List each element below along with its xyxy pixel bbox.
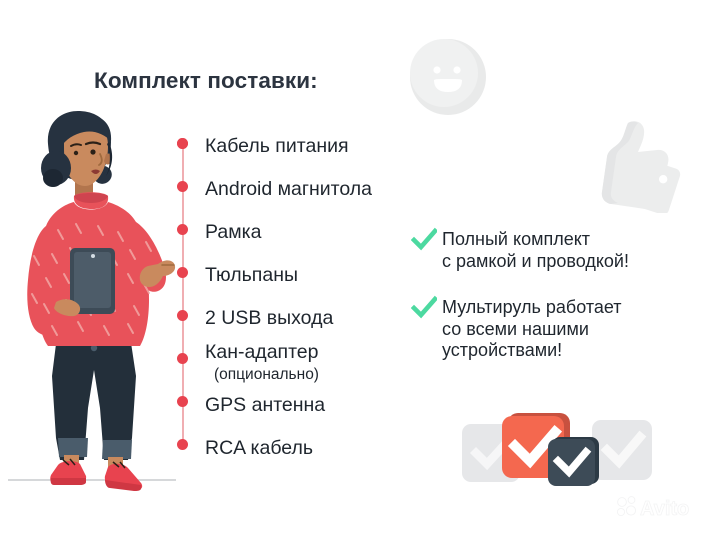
timeline-bullet: [177, 267, 188, 278]
list-item: Кан-адаптер: [205, 343, 319, 363]
timeline-bullet: [177, 138, 188, 149]
list-item: Android магнитола: [205, 180, 372, 200]
list-item: 2 USB выхода: [205, 309, 333, 329]
list-item: GPS антенна: [205, 396, 325, 416]
promo-canvas: Комплект поставки: Кабель питания Androi…: [0, 0, 720, 540]
list-item: RCA кабель: [205, 439, 313, 459]
page-title: Комплект поставки:: [94, 68, 318, 94]
benefit-item: Мультируль работает со всеми нашими устр…: [411, 297, 622, 362]
thumbs-up-icon: [581, 117, 685, 213]
list-item: Тюльпаны: [205, 266, 298, 286]
check-icon: [411, 295, 437, 321]
timeline-bullet: [177, 396, 188, 407]
avito-logo-icon: Avito: [614, 494, 710, 520]
timeline-bullet: [177, 353, 188, 364]
timeline-bullet: [177, 310, 188, 321]
woman-with-tablet-illustration: [8, 108, 176, 506]
list-item: Рамка: [205, 223, 261, 243]
smiley-face-icon: [409, 38, 487, 116]
benefit-item: Полный комплект с рамкой и проводкой!: [411, 229, 629, 272]
timeline-bullet: [177, 439, 188, 450]
list-item-sublabel: (опционально): [214, 367, 319, 383]
benefit-text: Мультируль работает со всеми нашими устр…: [442, 297, 622, 362]
watermark-label: Avito: [640, 498, 689, 520]
timeline-bullet: [177, 224, 188, 235]
checkbox-cards-icon: [462, 408, 652, 490]
timeline-rail: [181, 138, 185, 450]
timeline-bullet: [177, 181, 188, 192]
check-icon: [411, 227, 437, 253]
benefit-text: Полный комплект с рамкой и проводкой!: [442, 229, 629, 272]
list-item: Кабель питания: [205, 137, 349, 157]
